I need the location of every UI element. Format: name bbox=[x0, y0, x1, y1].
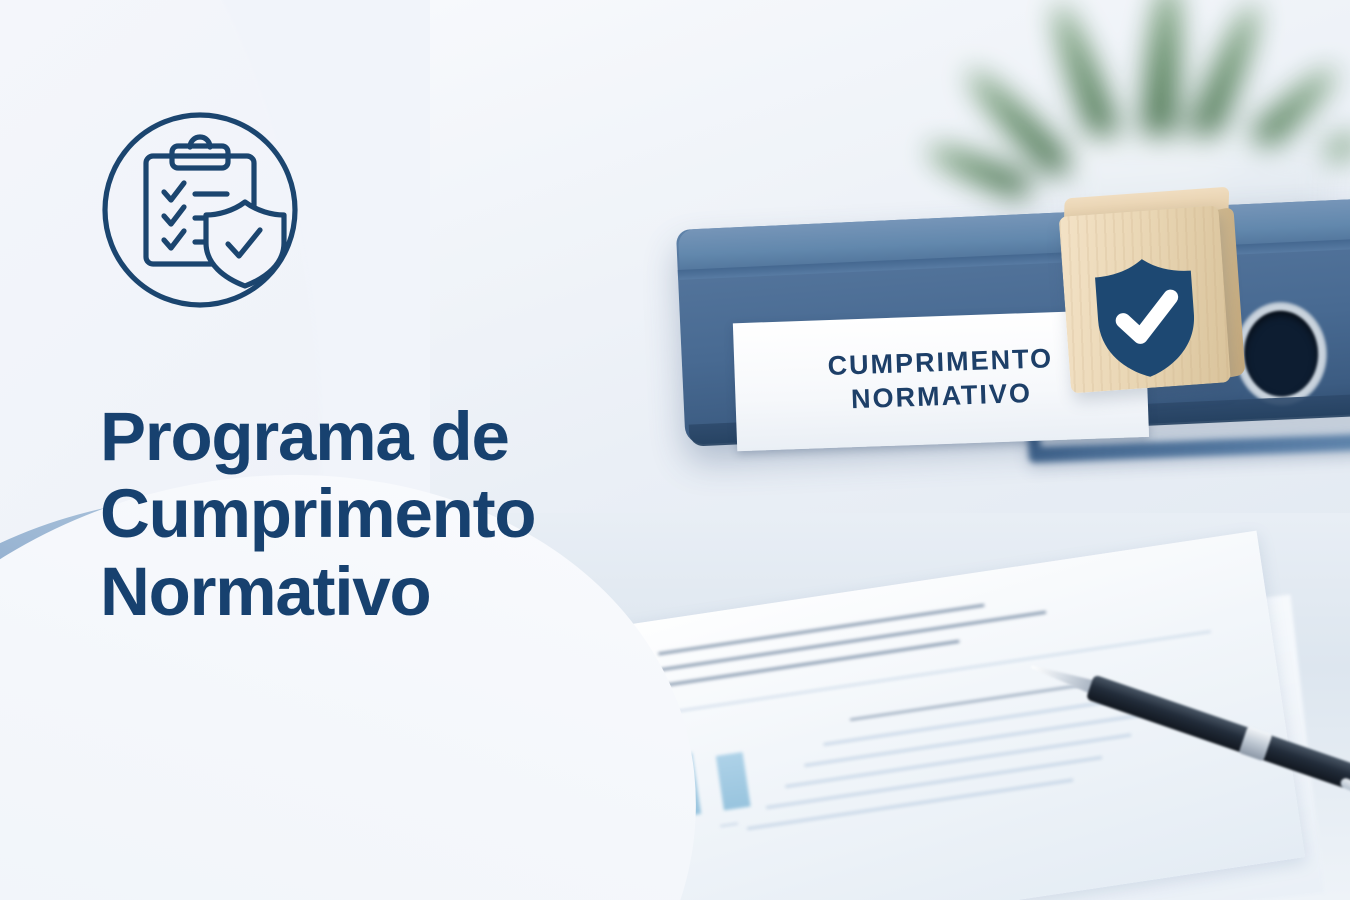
binder-label-line-2: NORMATIVO bbox=[851, 378, 1033, 416]
page-title: Programa de Cumprimento Normativo bbox=[100, 398, 640, 630]
binder-label-line-1: CUMPRIMENTO bbox=[827, 343, 1053, 383]
chart-bar bbox=[716, 752, 751, 810]
binder-front-face: CUMPRIMENTO NORMATIVO bbox=[676, 198, 1350, 445]
compliance-banner: CUMPRIMENTO NORMATIVO bbox=[0, 0, 1350, 900]
page-title-line-1: Programa de bbox=[100, 398, 640, 475]
banner-content: Programa de Cumprimento Normativo bbox=[0, 0, 700, 900]
shield-check-icon bbox=[1088, 253, 1204, 382]
main-binder: CUMPRIMENTO NORMATIVO bbox=[675, 172, 1350, 453]
binder-finger-hole bbox=[1242, 309, 1320, 398]
checklist-check-2 bbox=[164, 207, 184, 224]
wooden-cube bbox=[1057, 186, 1245, 393]
page-title-line-2: Cumprimento bbox=[100, 475, 640, 552]
checklist-check-1 bbox=[164, 183, 184, 200]
page-title-line-3: Normativo bbox=[100, 553, 640, 630]
checklist-check-3 bbox=[164, 231, 184, 248]
compliance-clipboard-shield-icon bbox=[100, 110, 300, 310]
cube-front-face bbox=[1059, 205, 1231, 393]
